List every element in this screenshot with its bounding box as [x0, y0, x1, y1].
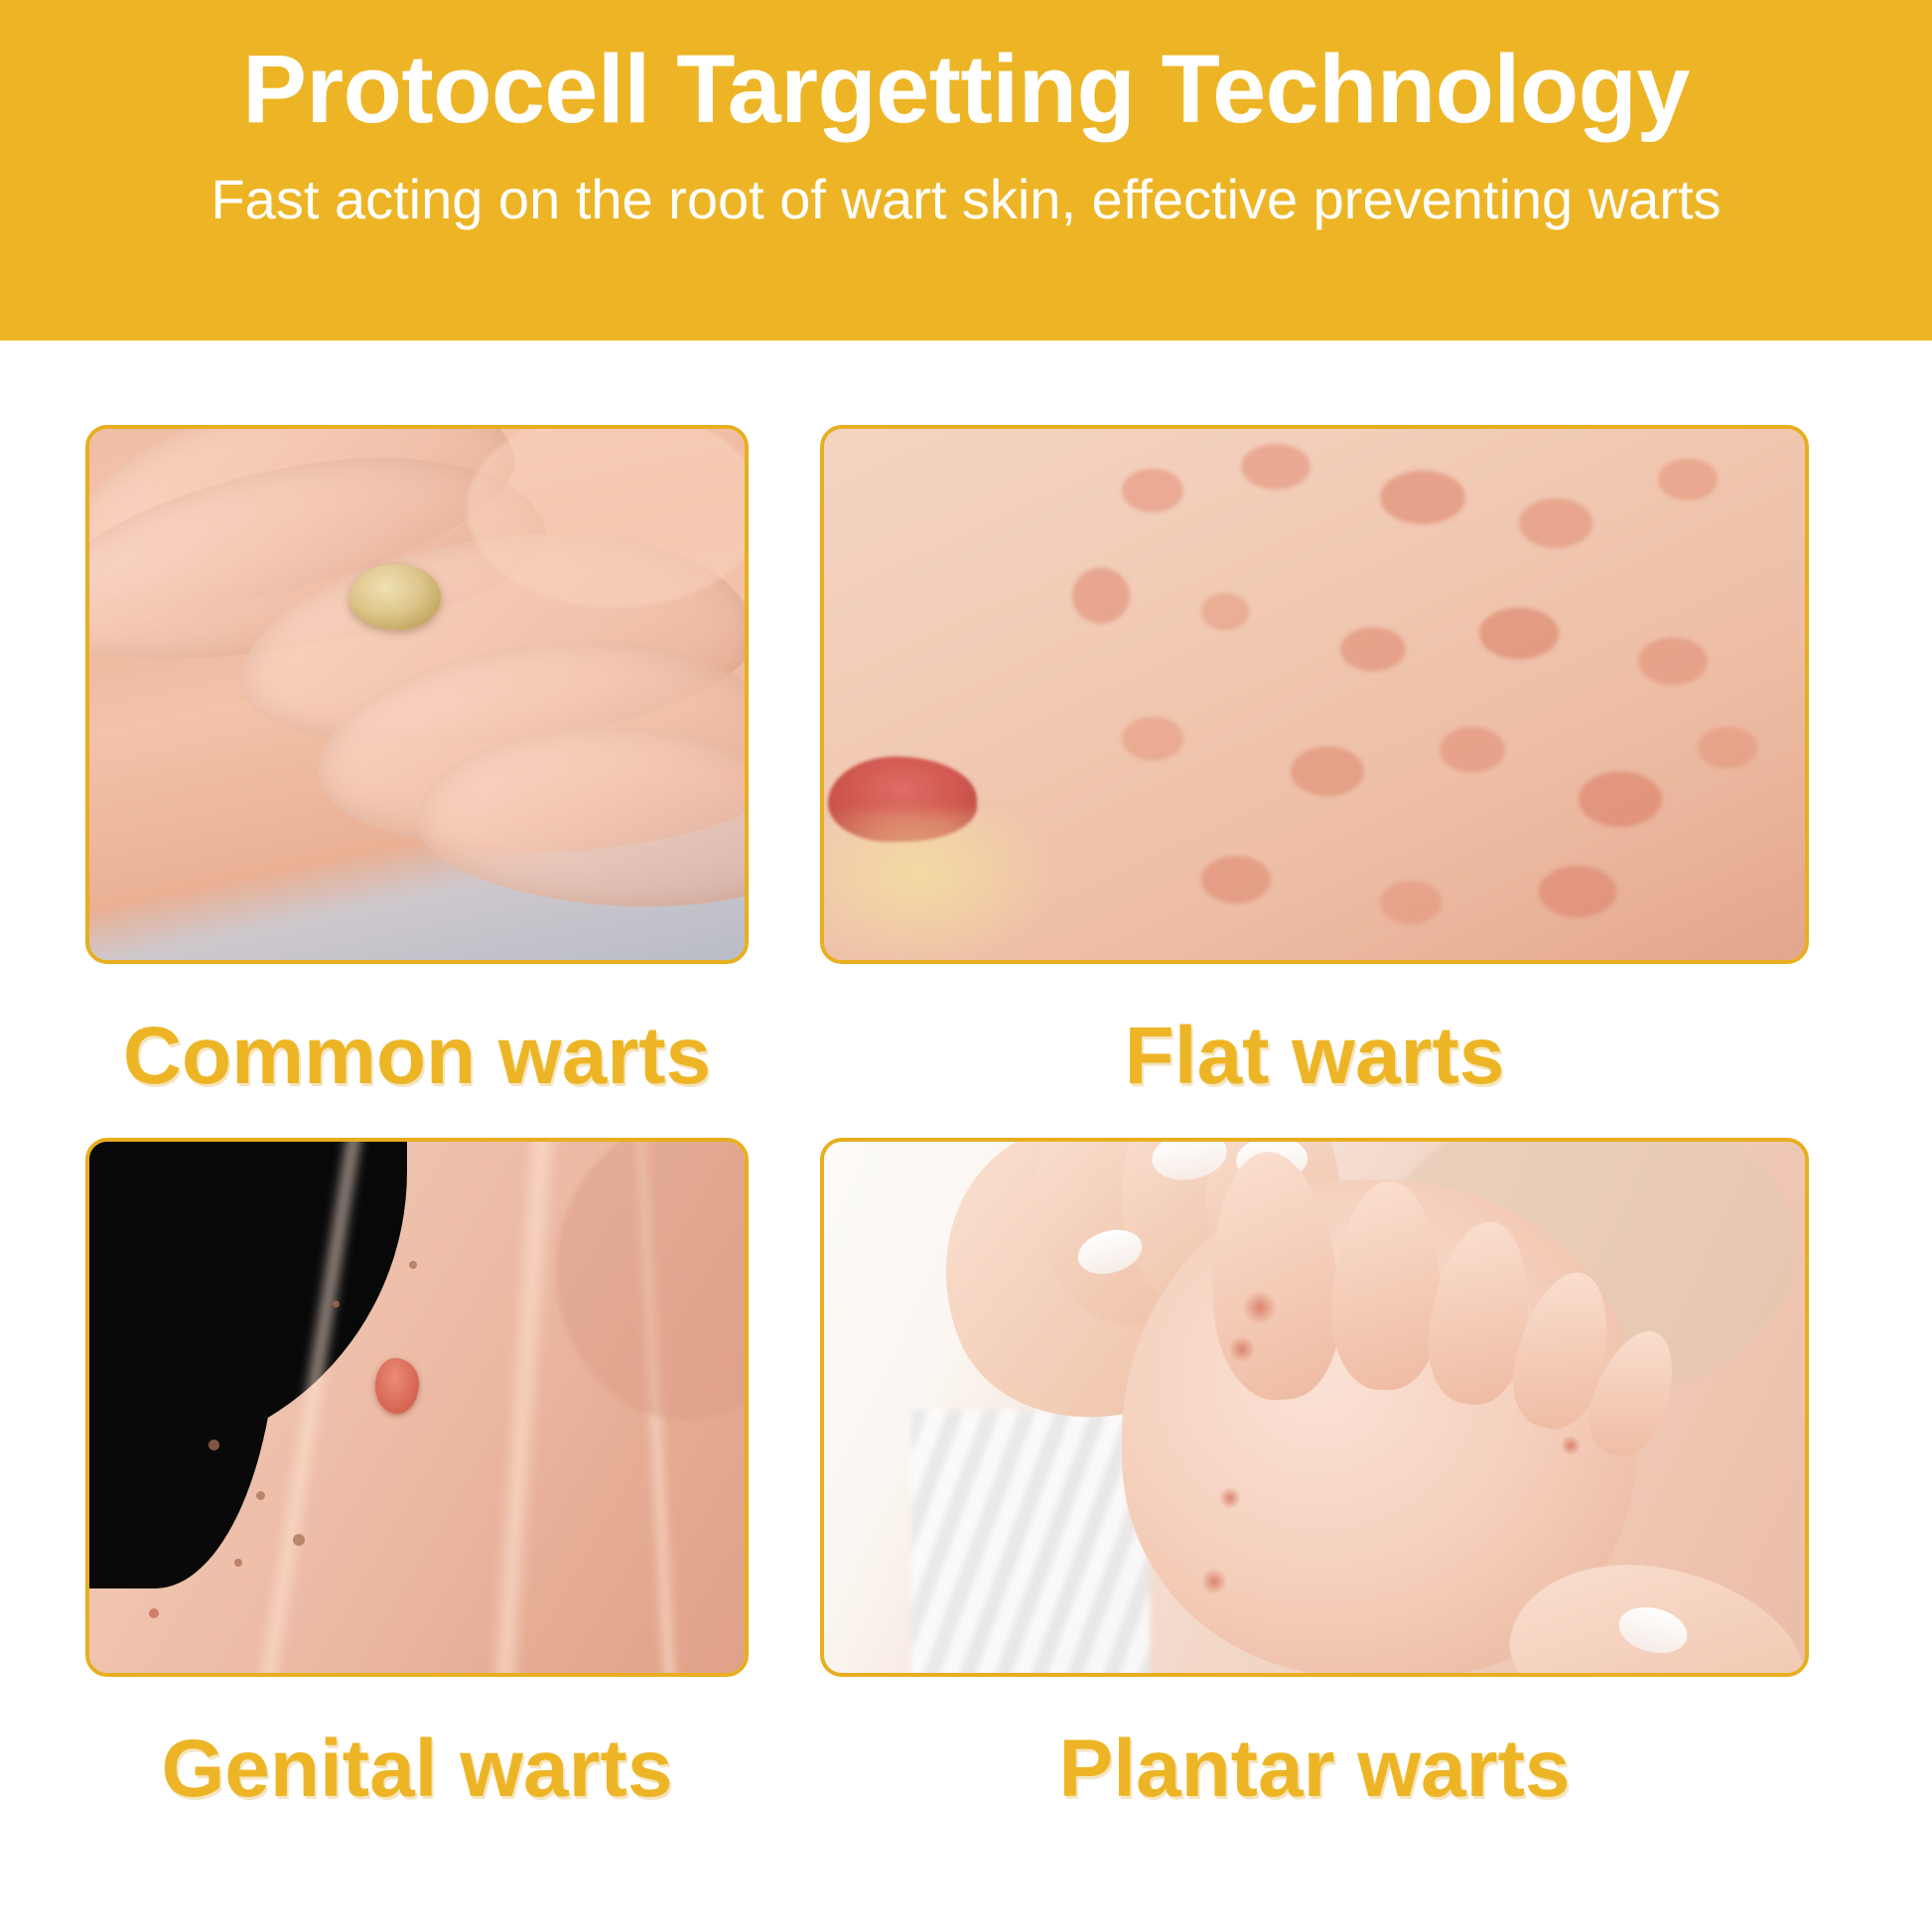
foot-plantar-warts-photo — [824, 1142, 1805, 1673]
wart-lesion — [1219, 1487, 1241, 1509]
header-banner: Protocell Targetting Technology Fast act… — [0, 0, 1932, 341]
image-card — [85, 425, 749, 964]
wart-lesion — [375, 1358, 419, 1414]
card-caption: Genital warts — [85, 1728, 749, 1810]
image-card — [820, 425, 1809, 964]
wart-type-grid: Common warts — [0, 341, 1932, 1932]
striped-garment — [911, 1410, 1150, 1673]
skin-sheen — [824, 811, 1062, 960]
wart-type-card-genital: Genital warts — [85, 1138, 749, 1810]
card-caption: Plantar warts — [820, 1728, 1809, 1810]
wart-lesion — [1229, 1336, 1255, 1362]
wart-lesion — [1243, 1291, 1277, 1324]
image-card — [85, 1138, 749, 1677]
wart-lesion — [349, 564, 441, 629]
wart-type-card-common: Common warts — [85, 425, 749, 1097]
wart-type-card-plantar: Plantar warts — [820, 1138, 1809, 1810]
dark-backdrop-edge — [89, 1142, 278, 1588]
card-caption: Common warts — [85, 1016, 749, 1097]
wart-lesion — [1201, 1569, 1227, 1594]
wart-type-card-flat: Flat warts — [820, 425, 1809, 1097]
hand-wart-photo — [89, 429, 745, 960]
face-flat-warts-photo — [824, 429, 1805, 960]
page-title: Protocell Targetting Technology — [242, 36, 1690, 144]
wart-lesion — [1561, 1436, 1581, 1455]
infographic-page: Protocell Targetting Technology Fast act… — [0, 0, 1932, 1932]
card-caption: Flat warts — [820, 1016, 1809, 1097]
page-subtitle: Fast acting on the root of wart skin, ef… — [210, 166, 1721, 232]
neck-wart-photo — [89, 1142, 745, 1673]
image-card — [820, 1138, 1809, 1677]
